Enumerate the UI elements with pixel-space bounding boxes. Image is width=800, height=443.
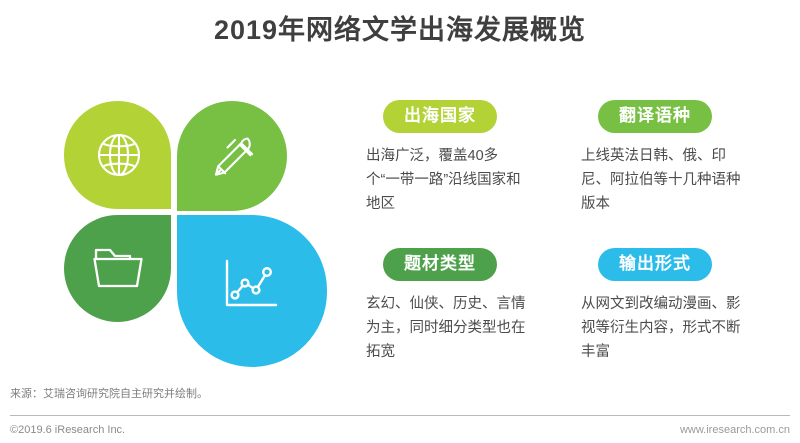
- website-url: www.iresearch.com.cn: [680, 422, 790, 438]
- info-block-fanyi-yuzhong: 翻译语种 上线英法日韩、俄、印尼、阿拉伯等十几种语种版本: [581, 100, 766, 216]
- block-body-text: 出海广泛，覆盖40多个“一带一路”沿线国家和地区: [366, 144, 529, 216]
- block-badge: 题材类型: [383, 248, 497, 281]
- page-title: 2019年网络文学出海发展概览: [0, 12, 800, 48]
- pencil-icon: [206, 129, 260, 183]
- footer-divider: [10, 415, 790, 416]
- petal-top-right: [177, 101, 287, 211]
- petal-bottom-left: [64, 215, 171, 322]
- info-block-chuhai-guojia: 出海国家 出海广泛，覆盖40多个“一带一路”沿线国家和地区: [366, 100, 551, 216]
- source-note: 来源：艾瑞咨询研究院自主研究并绘制。: [10, 386, 208, 402]
- folder-icon: [92, 244, 144, 292]
- block-body-text: 玄幻、仙侠、历史、言情为主，同时细分类型也在拓宽: [366, 292, 529, 364]
- block-body-text: 从网文到改编动漫画、影视等衍生内容，形式不断丰富: [581, 292, 744, 364]
- chart-icon: [219, 257, 281, 315]
- petal-bottom-right: [177, 215, 327, 367]
- copyright-text: ©2019.6 iResearch Inc.: [10, 422, 125, 438]
- info-block-shuchu-xingshi: 输出形式 从网文到改编动漫画、影视等衍生内容，形式不断丰富: [581, 248, 766, 364]
- petal-top-left: [64, 101, 171, 209]
- info-block-ticai-leixing: 题材类型 玄幻、仙侠、历史、言情为主，同时细分类型也在拓宽: [366, 248, 551, 364]
- block-badge: 出海国家: [383, 100, 497, 133]
- clover-graphic: [58, 93, 348, 383]
- block-body-text: 上线英法日韩、俄、印尼、阿拉伯等十几种语种版本: [581, 144, 744, 216]
- block-badge: 翻译语种: [598, 100, 712, 133]
- block-badge: 输出形式: [598, 248, 712, 281]
- globe-icon: [94, 130, 144, 180]
